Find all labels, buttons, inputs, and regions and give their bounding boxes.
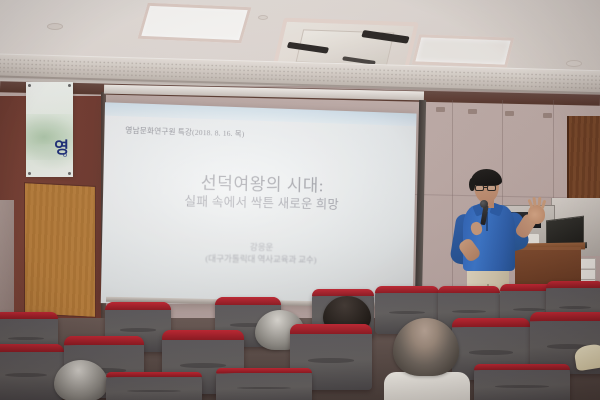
wall-fixture-icon <box>543 113 552 118</box>
finger <box>540 200 546 210</box>
projection-screen: 영남문화연구원 특강(2018. 8. 16. 목) 선덕여왕의 시대: 실패 … <box>101 102 417 305</box>
banner-pin-icon <box>28 84 31 87</box>
banner-pin-icon <box>68 172 71 175</box>
hanging-banner: 영 o <box>26 82 73 177</box>
wood-panel-inset <box>24 182 96 318</box>
ceiling-light-panel-1 <box>137 3 251 44</box>
auditorium-seat[interactable] <box>474 364 570 400</box>
auditorium-seat[interactable] <box>216 368 312 400</box>
lecture-hall-photo: 영 o 영남문화연구원 특강(2018. 8. 16. 목) 선덕여왕의 시대:… <box>0 0 600 400</box>
banner-character-small: o <box>26 150 67 159</box>
banner-pin-icon <box>68 84 71 87</box>
microphone-icon[interactable] <box>480 200 488 208</box>
audience-member-front-left <box>54 360 108 400</box>
eyeglasses-lens-right <box>487 185 496 191</box>
presenter-right-hand-open <box>528 205 545 224</box>
finger <box>532 197 537 206</box>
eyeglasses-bridge <box>484 187 487 188</box>
audience-member-front-right <box>393 318 459 376</box>
ceiling-light-panel-2 <box>412 34 515 67</box>
auditorium-seat[interactable] <box>106 372 202 400</box>
sprinkler-icon <box>258 15 268 20</box>
sprinkler-icon <box>566 60 582 67</box>
presenter-hair <box>471 169 502 186</box>
audience-member-shirt <box>384 372 470 400</box>
slide-header-text: 영남문화연구원 특강(2018. 8. 16. 목) <box>125 124 244 139</box>
wall-fixture-icon <box>436 107 445 112</box>
wall-fixture-icon <box>468 109 477 114</box>
eyeglasses-lens-left <box>475 185 484 191</box>
presentation-slide: 영남문화연구원 특강(2018. 8. 16. 목) 선덕여왕의 시대: 실패 … <box>101 102 417 305</box>
banner-pin-icon <box>28 172 31 175</box>
auditorium-seat[interactable] <box>0 344 64 400</box>
wall-fixture-icon <box>505 111 514 116</box>
sprinkler-icon <box>47 23 63 30</box>
